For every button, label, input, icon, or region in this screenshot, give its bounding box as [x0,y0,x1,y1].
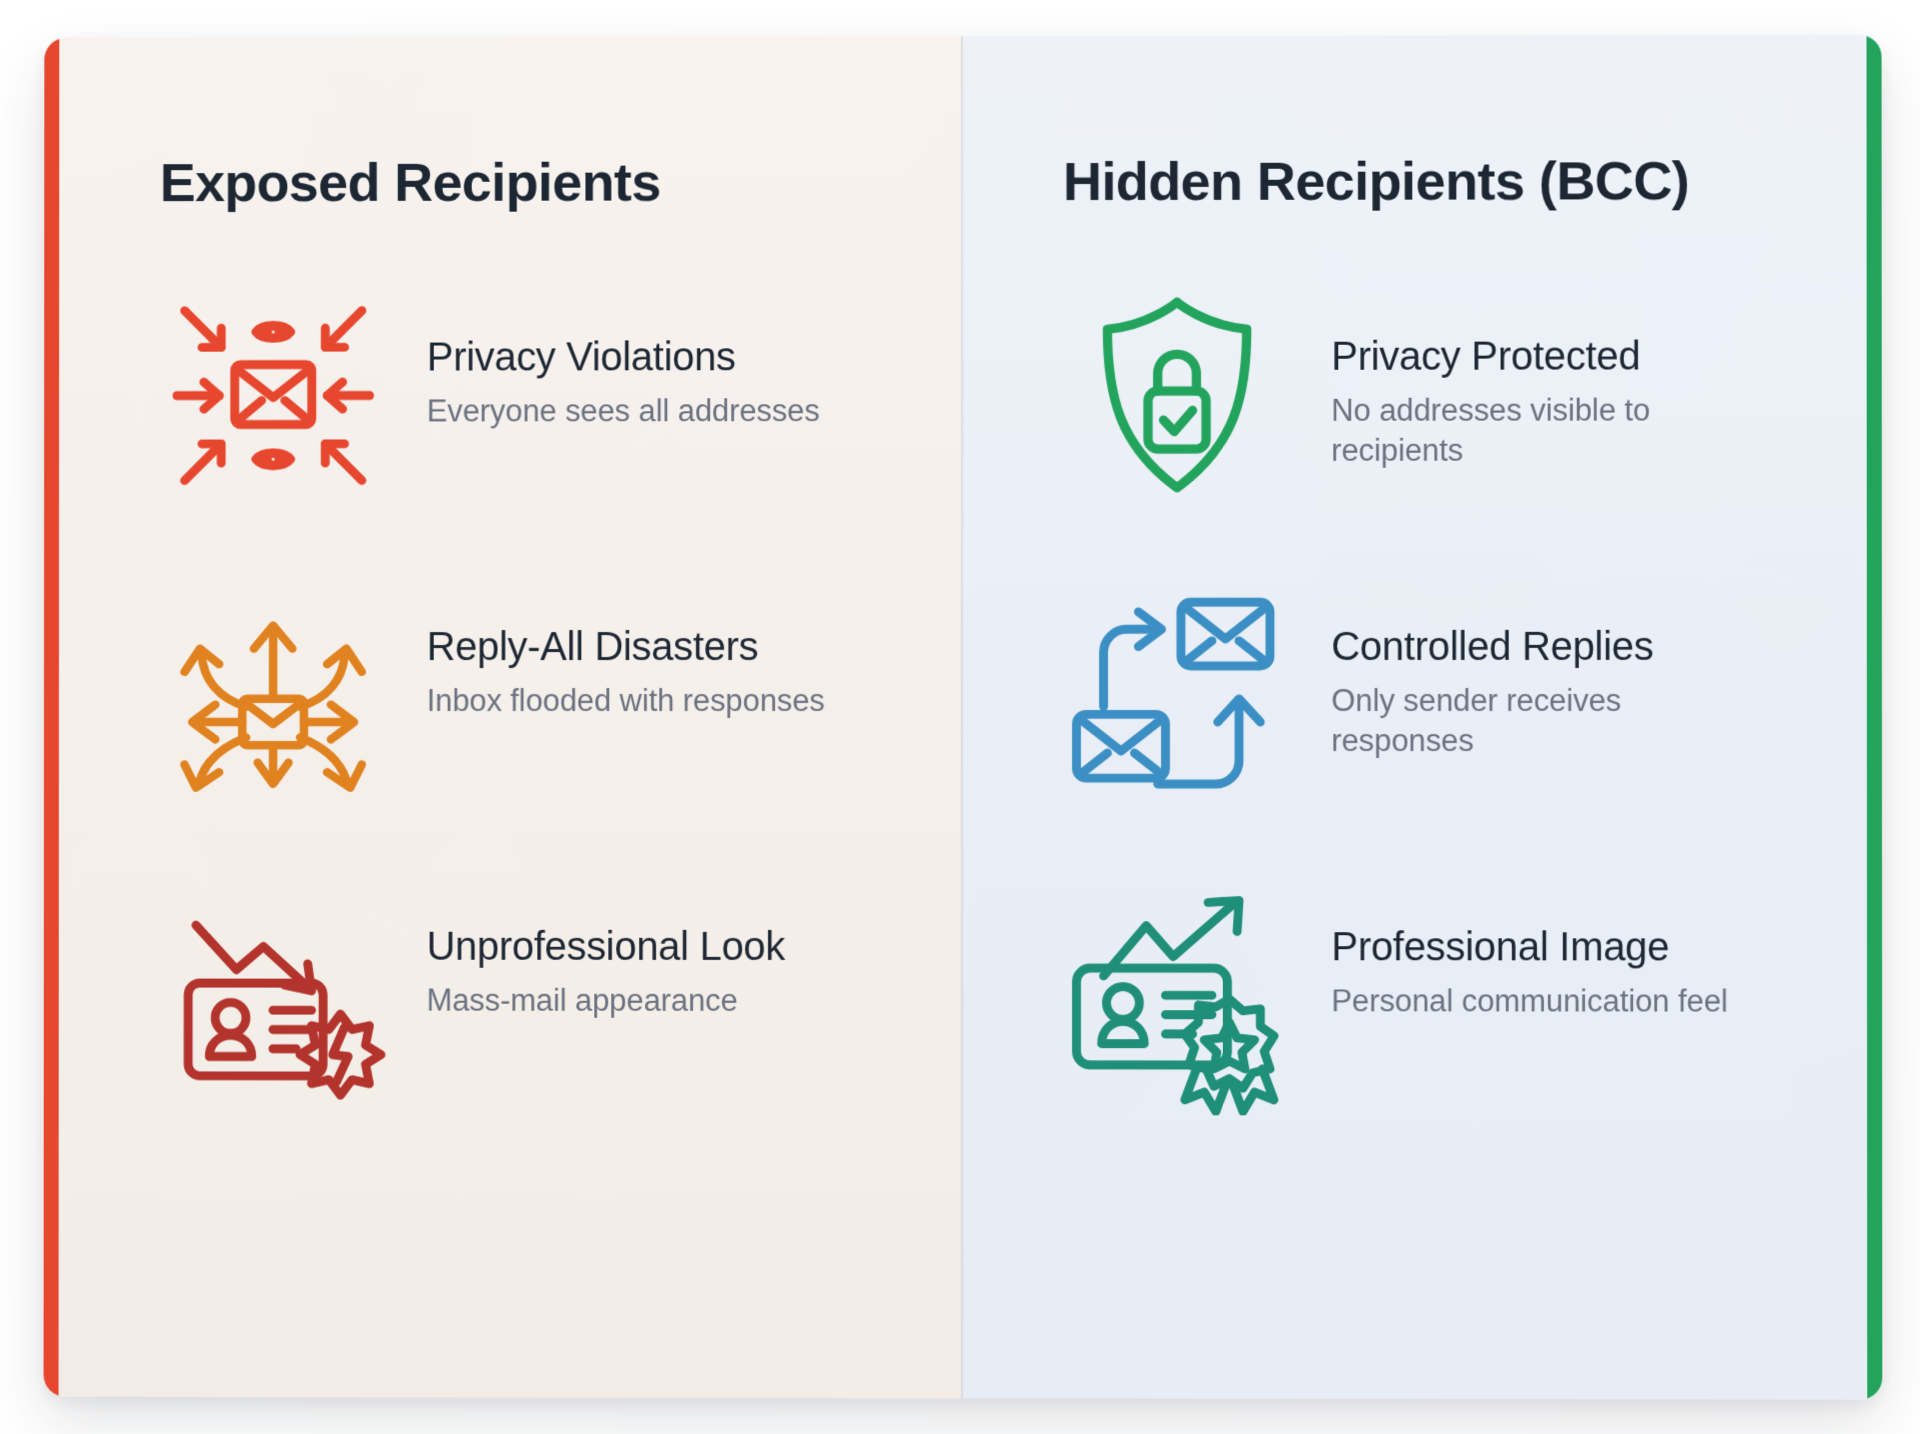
list-item-description: Mass-mail appearance [427,981,785,1020]
list-item-title: Controlled Replies [1331,625,1762,670]
list-item: Reply-All Disasters Inbox flooded with r… [118,597,887,811]
panel-hidden-recipients: Hidden Recipients (BCC) Privacy Protecte… [961,35,1882,1400]
list-item-description: Personal communication feel [1331,982,1727,1021]
list-item-title: Unprofessional Look [427,924,785,969]
left-accent-bar [44,38,60,1397]
envelope-with-eyes-and-arrows-icon [158,279,389,511]
list-item-title: Privacy Protected [1331,334,1762,379]
list-item-description: Everyone sees all addresses [427,392,820,431]
right-accent-bar [1866,35,1882,1400]
list-item: Unprofessional Look Mass-mail appearance [117,896,887,1114]
envelope-radial-arrows-icon [157,579,388,811]
business-card-rising-arrow-award-badge-icon [1061,883,1293,1115]
list-item-text: Unprofessional Look Mass-mail appearance [427,896,785,1020]
list-item: Privacy Protected No addresses visible t… [1035,306,1808,511]
business-card-declining-arrow-broken-badge-icon [157,882,388,1114]
list-item-title: Privacy Violations [427,335,820,380]
list-item-text: Privacy Protected No addresses visible t… [1331,306,1762,469]
list-item: Controlled Replies Only sender receives … [1035,596,1808,810]
left-panel-rows: Privacy Violations Everyone sees all add… [117,307,887,1115]
list-item-text: Controlled Replies Only sender receives … [1331,596,1762,759]
list-item-description: No addresses visible to recipients [1331,391,1762,469]
left-panel-title: Exposed Recipients [118,154,887,212]
list-item-title: Professional Image [1331,925,1727,970]
list-item-description: Only sender receives responses [1331,681,1762,759]
two-envelopes-cycle-arrows-icon [1061,579,1293,811]
right-panel-title: Hidden Recipients (BCC) [1035,153,1807,211]
list-item-text: Privacy Violations Everyone sees all add… [427,307,820,431]
list-item-text: Reply-All Disasters Inbox flooded with r… [427,597,825,721]
list-item: Privacy Violations Everyone sees all add… [118,307,887,511]
list-item-description: Inbox flooded with responses [427,681,825,720]
list-item-text: Professional Image Personal communicatio… [1331,897,1727,1021]
list-item: Professional Image Personal communicatio… [1035,897,1808,1116]
list-item-title: Reply-All Disasters [427,625,825,670]
right-panel-rows: Privacy Protected No addresses visible t… [1035,306,1808,1116]
comparison-card: Exposed Recipients [44,35,1883,1400]
panel-exposed-recipients: Exposed Recipients [44,36,961,1398]
infographic-canvas: Exposed Recipients [0,0,1920,1434]
shield-lock-check-icon [1061,278,1293,510]
